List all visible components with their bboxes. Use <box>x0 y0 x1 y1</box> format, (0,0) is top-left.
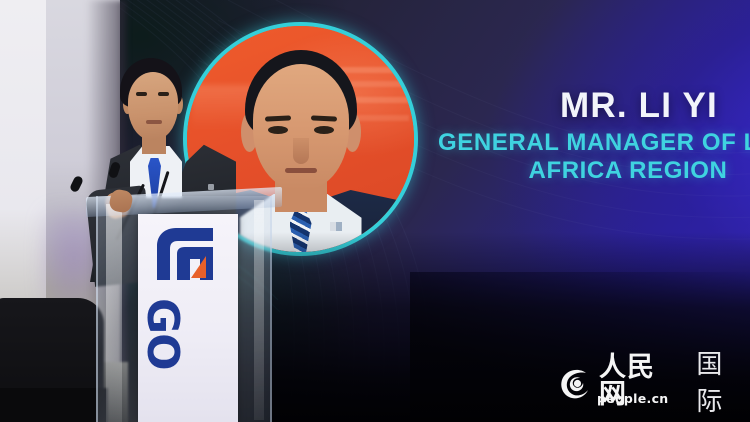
watermark-section-cn: 国际 <box>696 344 750 418</box>
speaker-eye-left <box>136 92 147 96</box>
speaker-eye-right <box>158 92 169 96</box>
podium: LiuGO <box>96 196 272 422</box>
podium-brand-panel: LiuGO <box>138 214 238 422</box>
speaker-role-line1: GENERAL MANAGER OF L <box>438 129 750 156</box>
portrait-lapel-pin <box>330 222 342 231</box>
speaker-lapel-pin <box>208 184 214 190</box>
stage-photo: MR. LI YI GENERAL MANAGER OF L AFRICA RE… <box>0 0 750 422</box>
liugong-wordmark: LiuGO <box>133 298 243 418</box>
peoplecn-logo-icon <box>556 366 592 402</box>
portrait-face <box>253 64 349 190</box>
liugong-logo-icon <box>151 224 225 286</box>
podium-highlight-left <box>106 204 122 422</box>
foreground-dark-base <box>0 388 108 422</box>
watermark: 人民网 people.cn 国际 <box>556 362 750 406</box>
speaker-mouth <box>146 120 162 124</box>
screen-title-block: MR. LI YI GENERAL MANAGER OF L AFRICA RE… <box>438 88 750 184</box>
speaker-face <box>128 72 178 140</box>
watermark-domain: people.cn <box>597 391 668 406</box>
speaker-name: MR. LI YI <box>438 88 750 124</box>
speaker-role-line2: AFRICA REGION <box>438 157 750 184</box>
speaker-role: GENERAL MANAGER OF L AFRICA REGION <box>438 129 750 183</box>
podium-highlight-right <box>254 200 264 420</box>
